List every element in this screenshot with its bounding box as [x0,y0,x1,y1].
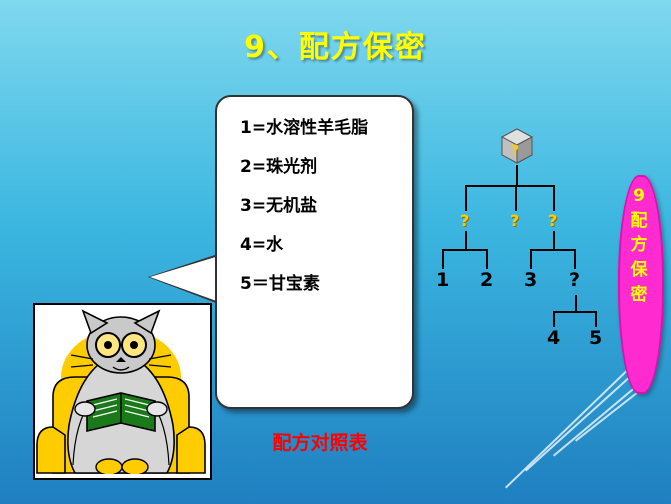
slide-canvas: 9、配方保密 1=水溶性羊毛脂 2=珠光剂 3=无机盐 4=水 5＝甘宝素 配方… [0,0,671,504]
callout-tail [150,255,222,303]
formula-item-3: 3=无机盐 [240,195,398,218]
tree-leaf-sub-5: 5 [589,327,602,349]
side-banner-text: 9 配 方 保 密 [618,184,660,307]
cat-reading-book-icon [35,305,206,474]
cat-illustration [33,303,212,480]
svg-text:?: ? [511,143,519,159]
tree-edge-leaf4 [574,249,576,269]
root-cube-icon: ? [498,125,536,169]
formula-item-1: 1=水溶性羊毛脂 [240,117,398,140]
tree-leaf-1: 1 [436,269,449,291]
page-title: 9、配方保密 [0,22,671,66]
banner-char-3: 方 [618,233,660,258]
tree-edge-mid3-down [553,185,555,211]
tree-edge-mid1-stem [465,231,467,249]
tree-edge-leaf2 [486,249,488,269]
banner-char-1: 9 [618,184,660,209]
decor-streak-1 [525,370,638,472]
formula-list: 1=水溶性羊毛脂 2=珠光剂 3=无机盐 4=水 5＝甘宝素 [228,103,408,403]
tree-edge-root-down [516,165,518,185]
banner-char-4: 保 [618,258,660,283]
formula-item-5: 5＝甘宝素 [240,273,398,296]
tree-edge-sub2 [595,311,597,327]
tree-edge-mid3-stem [553,231,555,249]
table-caption: 配方对照表 [215,428,425,455]
tree-node-mid-2: ? [510,211,519,230]
formula-item-4: 4=水 [240,234,398,257]
tree-edge-mid2-down [515,185,517,211]
formula-item-2: 2=珠光剂 [240,156,398,179]
decor-streak-2 [505,365,632,488]
tree-node-mid-1: ? [460,211,469,230]
tree-edge-level1-bar [465,185,555,187]
tree-leaf-2: 2 [480,269,493,291]
tree-edge-mid1-down [465,185,467,211]
tree-leaf-sub-4: 4 [547,327,560,349]
tree-leaf-4: ? [569,269,580,291]
tree-edge-sub-bar [553,311,597,313]
tree-edge-left-bar [442,249,488,251]
tree-edge-leaf3 [530,249,532,269]
tree-leaf-3: 3 [524,269,537,291]
tree-edge-sub1 [553,311,555,327]
tree-edge-leaf1 [442,249,444,269]
tree-node-mid-3: ? [548,211,557,230]
banner-char-2: 配 [618,209,660,234]
banner-char-5: 密 [618,283,660,308]
tree-edge-leaf4-stem [575,295,577,311]
formula-tree-diagram: ? ? ? ? 1 2 3 ? 4 5 [420,125,600,375]
tree-edge-right-bar [530,249,576,251]
